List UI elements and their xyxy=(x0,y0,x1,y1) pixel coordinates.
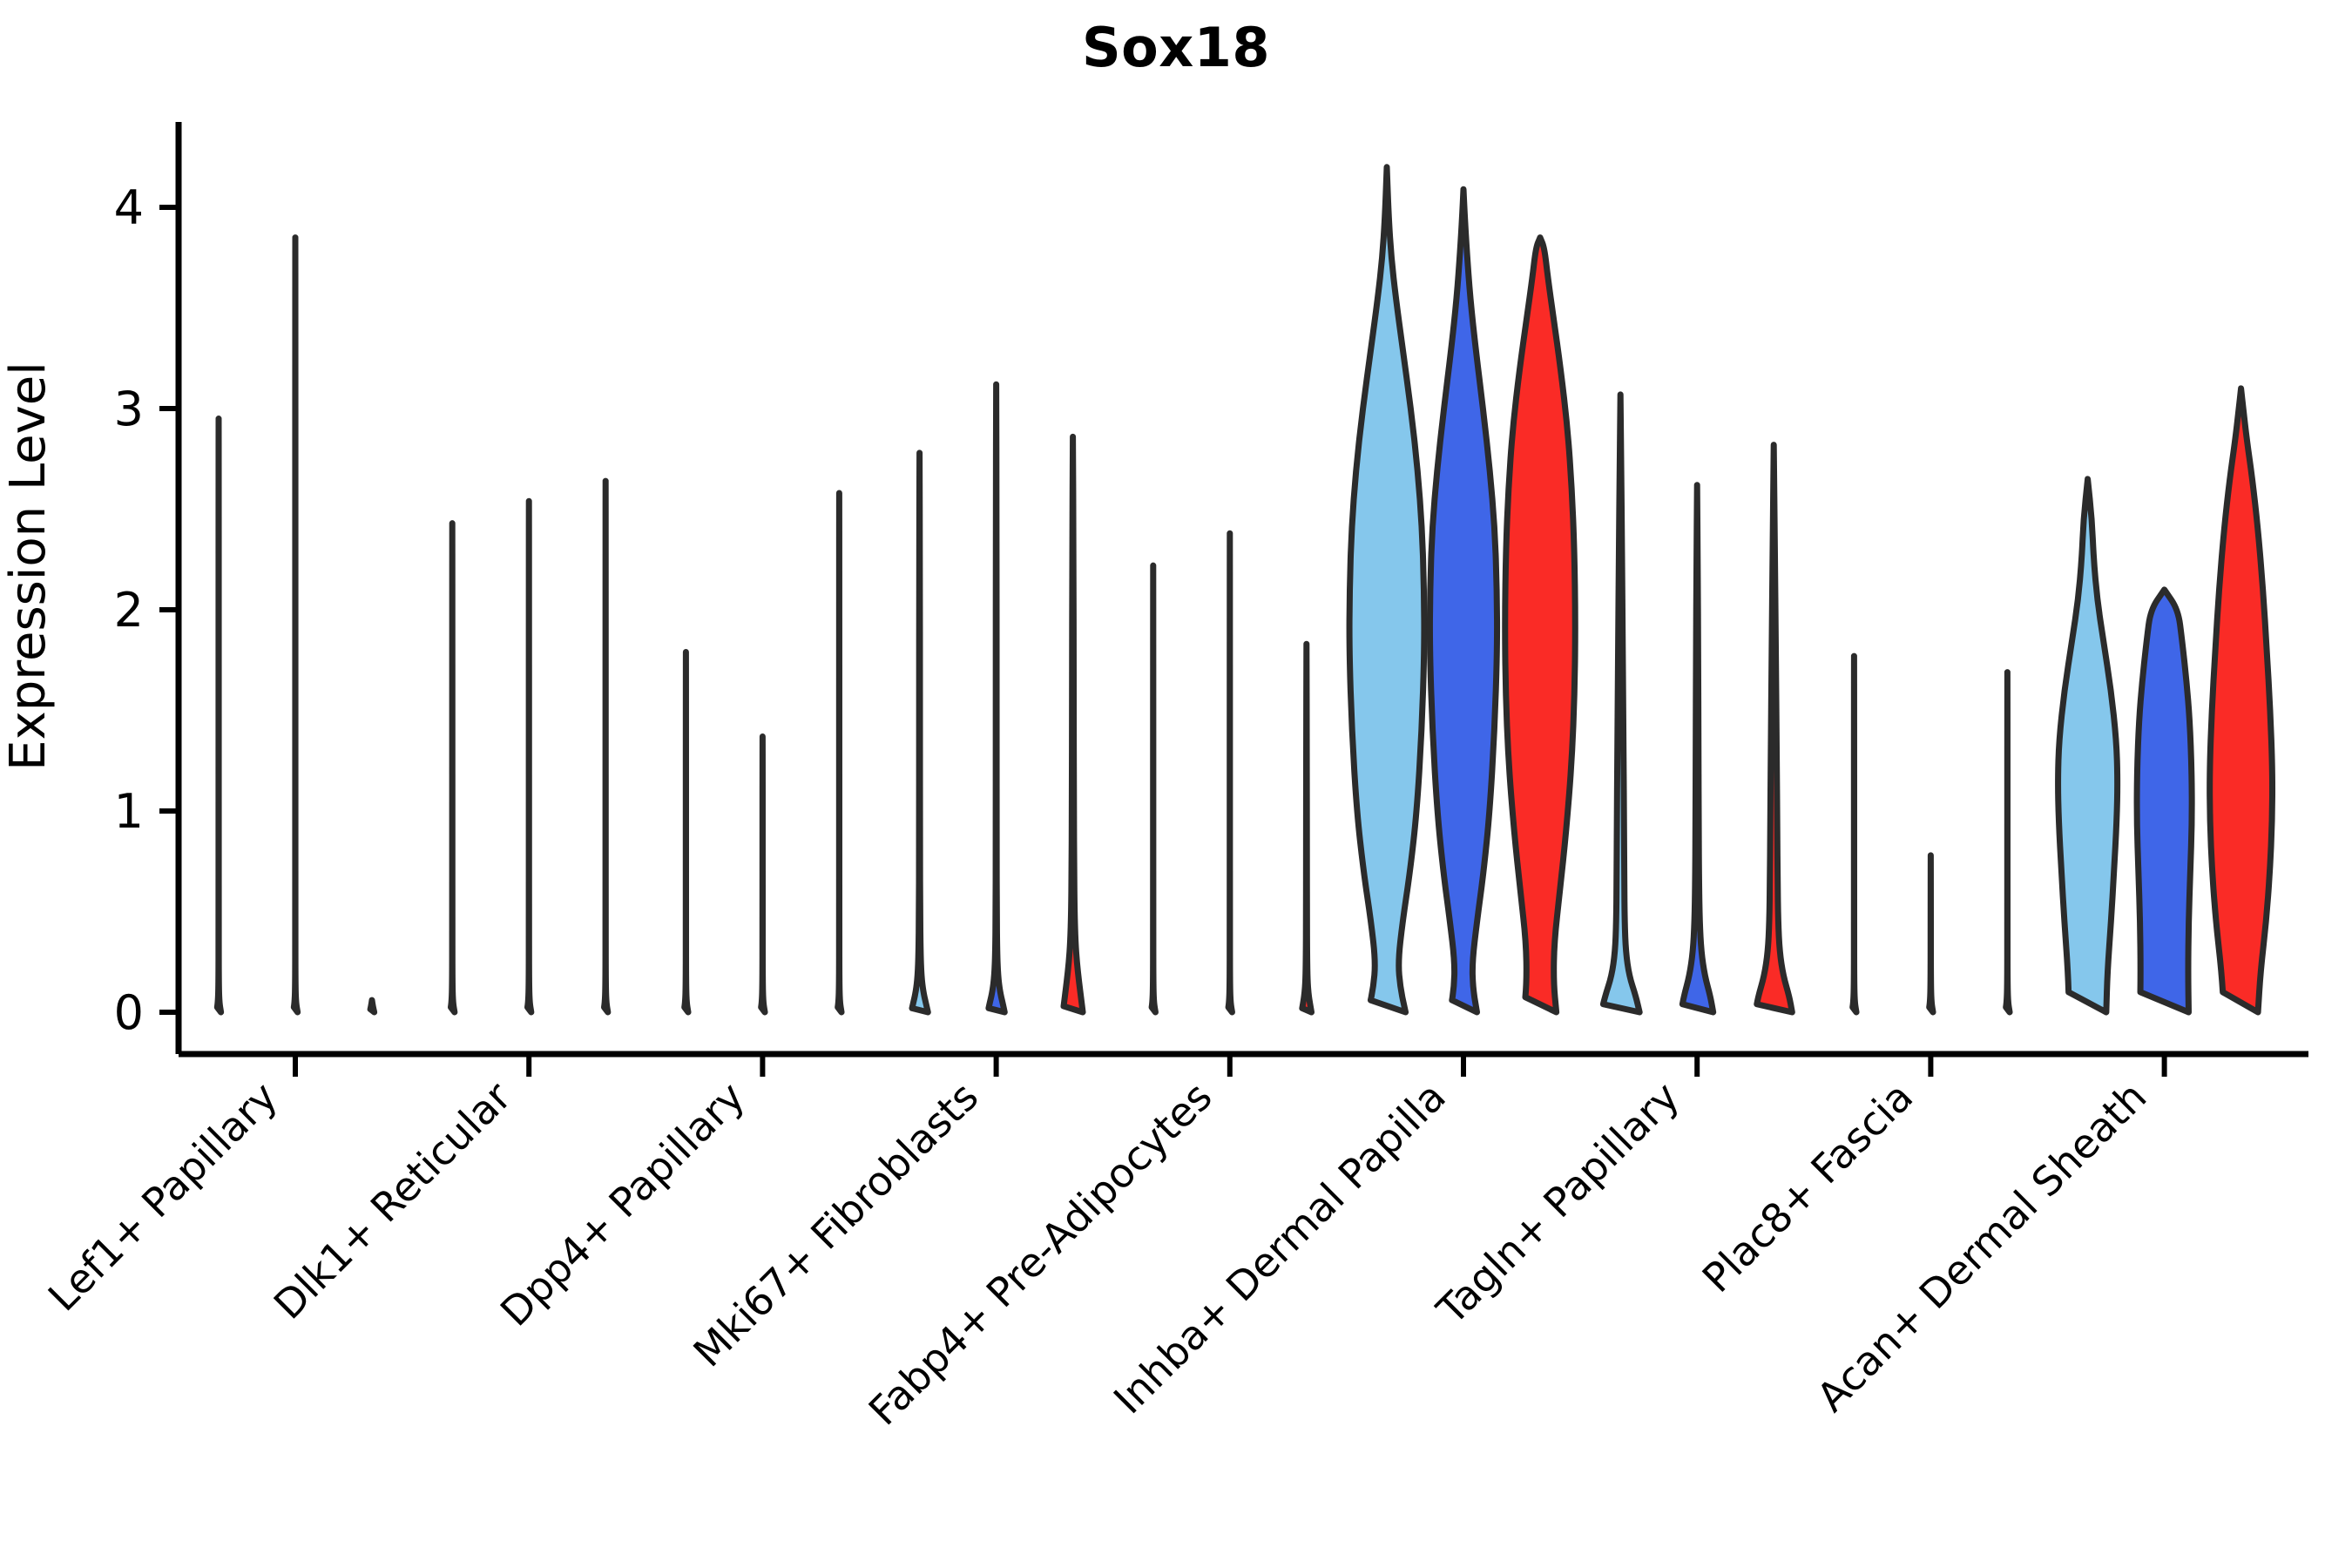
violin-mki67-fibroblasts-group-2 xyxy=(989,384,1004,1012)
violin-plac8-fascia-group-3 xyxy=(2006,672,2010,1012)
x-tick-label: Dpp4+ Papillary xyxy=(491,1073,754,1335)
y-tick-layer: 01234 xyxy=(114,180,179,1040)
violin-dlk1-reticular-group-3 xyxy=(605,481,608,1012)
plot-canvas: 01234 Lef1+ PapillaryDlk1+ ReticularDpp4… xyxy=(0,0,2352,1568)
violin-tagln-papillary-group-3 xyxy=(1757,445,1793,1012)
x-tick-label-group: Tagln+ Papillary xyxy=(1427,1073,1688,1335)
violin-fabp4-pre-adipocytes-group-1 xyxy=(1152,565,1155,1012)
violin-tagln-papillary-group-2 xyxy=(1682,485,1713,1012)
violin-plac8-fascia-group-2 xyxy=(1930,855,1933,1012)
x-tick-layer: Lef1+ PapillaryDlk1+ ReticularDpp4+ Papi… xyxy=(39,1054,2165,1435)
violin-dpp4-papillary-group-3 xyxy=(838,493,841,1012)
violin-dpp4-papillary-group-1 xyxy=(685,652,688,1012)
violin-lef1-papillary-group-1 xyxy=(217,419,220,1012)
violin-mki67-fibroblasts-group-3 xyxy=(1064,436,1083,1012)
y-tick-label: 0 xyxy=(114,985,144,1040)
violin-mki67-fibroblasts-group-1 xyxy=(912,453,928,1012)
violin-inhba-dermal-papilla-group-3 xyxy=(1505,238,1575,1012)
violin-acan-dermal-sheath-group-2 xyxy=(2137,590,2192,1012)
violin-lef1-papillary-group-2 xyxy=(294,238,297,1012)
violin-acan-dermal-sheath-group-1 xyxy=(2058,479,2118,1012)
violin-inhba-dermal-papilla-group-2 xyxy=(1429,189,1497,1012)
x-tick-label: Lef1+ Papillary xyxy=(39,1073,287,1321)
violin-acan-dermal-sheath-group-3 xyxy=(2210,389,2273,1012)
x-tick-label-group: Lef1+ Papillary xyxy=(39,1073,287,1321)
violin-inhba-dermal-papilla-group-1 xyxy=(1349,167,1424,1012)
x-tick-label: Plac8+ Fascia xyxy=(1693,1073,1922,1301)
y-tick-label: 1 xyxy=(114,784,144,839)
violin-plot-figure: Sox18 Expression Level 01234 Lef1+ Papil… xyxy=(0,0,2352,1568)
violin-dlk1-reticular-group-1 xyxy=(451,524,455,1012)
x-tick-label: Dlk1+ Reticular xyxy=(265,1073,520,1328)
axis-layer xyxy=(179,122,2308,1054)
y-tick-label: 2 xyxy=(114,583,144,638)
y-tick-label: 4 xyxy=(114,180,144,235)
x-tick-label-group: Dlk1+ Reticular xyxy=(265,1073,520,1328)
violin-tagln-papillary-group-1 xyxy=(1603,395,1639,1012)
violin-lef1-papillary-group-3 xyxy=(370,1000,374,1012)
violin-dpp4-papillary-group-2 xyxy=(761,737,765,1012)
violin-layer xyxy=(217,167,2272,1012)
y-tick-label: 3 xyxy=(114,382,144,436)
violin-fabp4-pre-adipocytes-group-3 xyxy=(1302,644,1312,1012)
violin-fabp4-pre-adipocytes-group-2 xyxy=(1228,533,1232,1012)
x-tick-label: Tagln+ Papillary xyxy=(1427,1073,1688,1335)
x-tick-label-group: Plac8+ Fascia xyxy=(1693,1073,1922,1301)
violin-plac8-fascia-group-1 xyxy=(1853,656,1856,1012)
violin-dlk1-reticular-group-2 xyxy=(528,501,531,1012)
x-tick-label-group: Dpp4+ Papillary xyxy=(491,1073,754,1335)
